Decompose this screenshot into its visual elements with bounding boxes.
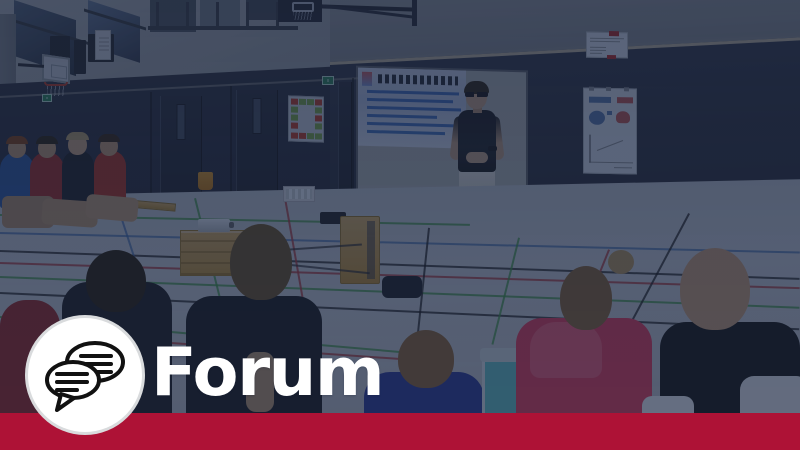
- banner-title: Forum: [151, 337, 383, 407]
- forum-banner: Forum: [0, 0, 800, 450]
- speech-bubbles-icon: [45, 340, 127, 412]
- forum-logo-badge: [28, 318, 142, 432]
